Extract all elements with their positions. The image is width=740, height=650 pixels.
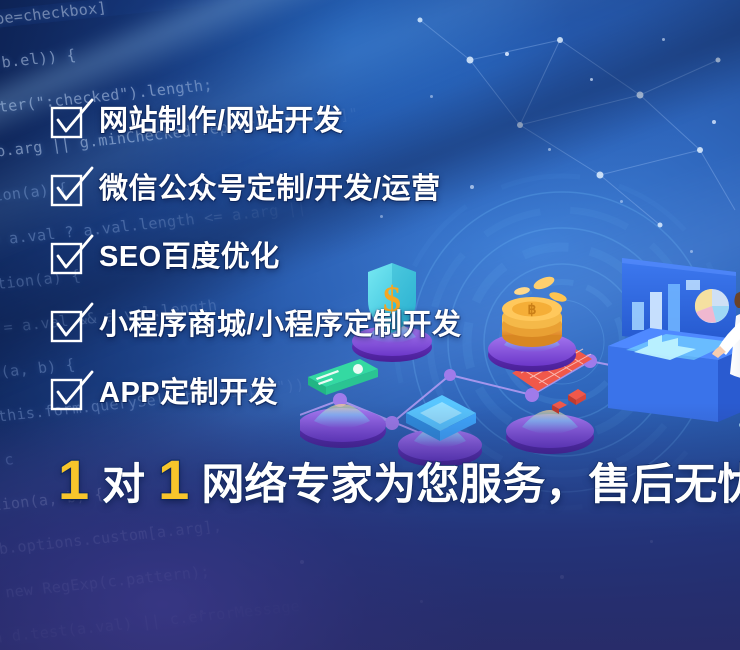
service-item-website[interactable]: 网站制作/网站开发 [52,98,692,144]
tagline: 1 对 1 网络专家为您服务，售后无忧！ [52,452,740,508]
banner-content: 网站制作/网站开发 微信公众号定制/开发/运营 [0,0,740,650]
service-item-label: APP定制开发 [99,379,278,408]
checkbox-checked-icon [52,106,82,136]
service-item-label: 小程序商城/小程序定制开发 [99,311,462,340]
service-item-label: 网站制作/网站开发 [99,107,344,136]
service-item-label: SEO百度优化 [99,243,280,272]
service-item-app[interactable]: APP定制开发 [52,370,692,416]
checkbox-checked-icon [52,378,82,408]
checkbox-checked-icon [52,310,82,340]
tagline-number-second: 1 [152,452,195,508]
service-item-wechat[interactable]: 微信公众号定制/开发/运营 [52,166,692,212]
promo-banner: ; input[type=checkbox] = d.index(b.el)) … [0,0,740,650]
service-item-label: 微信公众号定制/开发/运营 [99,175,441,204]
tagline-rest-text: 网络专家为您服务，售后无忧！ [195,464,740,507]
tagline-number-first: 1 [52,452,95,508]
tagline-middle-word: 对 [95,464,152,507]
checkbox-checked-icon [52,174,82,204]
checkbox-checked-icon [52,242,82,272]
service-item-seo[interactable]: SEO百度优化 [52,234,692,280]
service-item-miniapp[interactable]: 小程序商城/小程序定制开发 [52,302,692,348]
service-list: 网站制作/网站开发 微信公众号定制/开发/运营 [52,98,692,438]
